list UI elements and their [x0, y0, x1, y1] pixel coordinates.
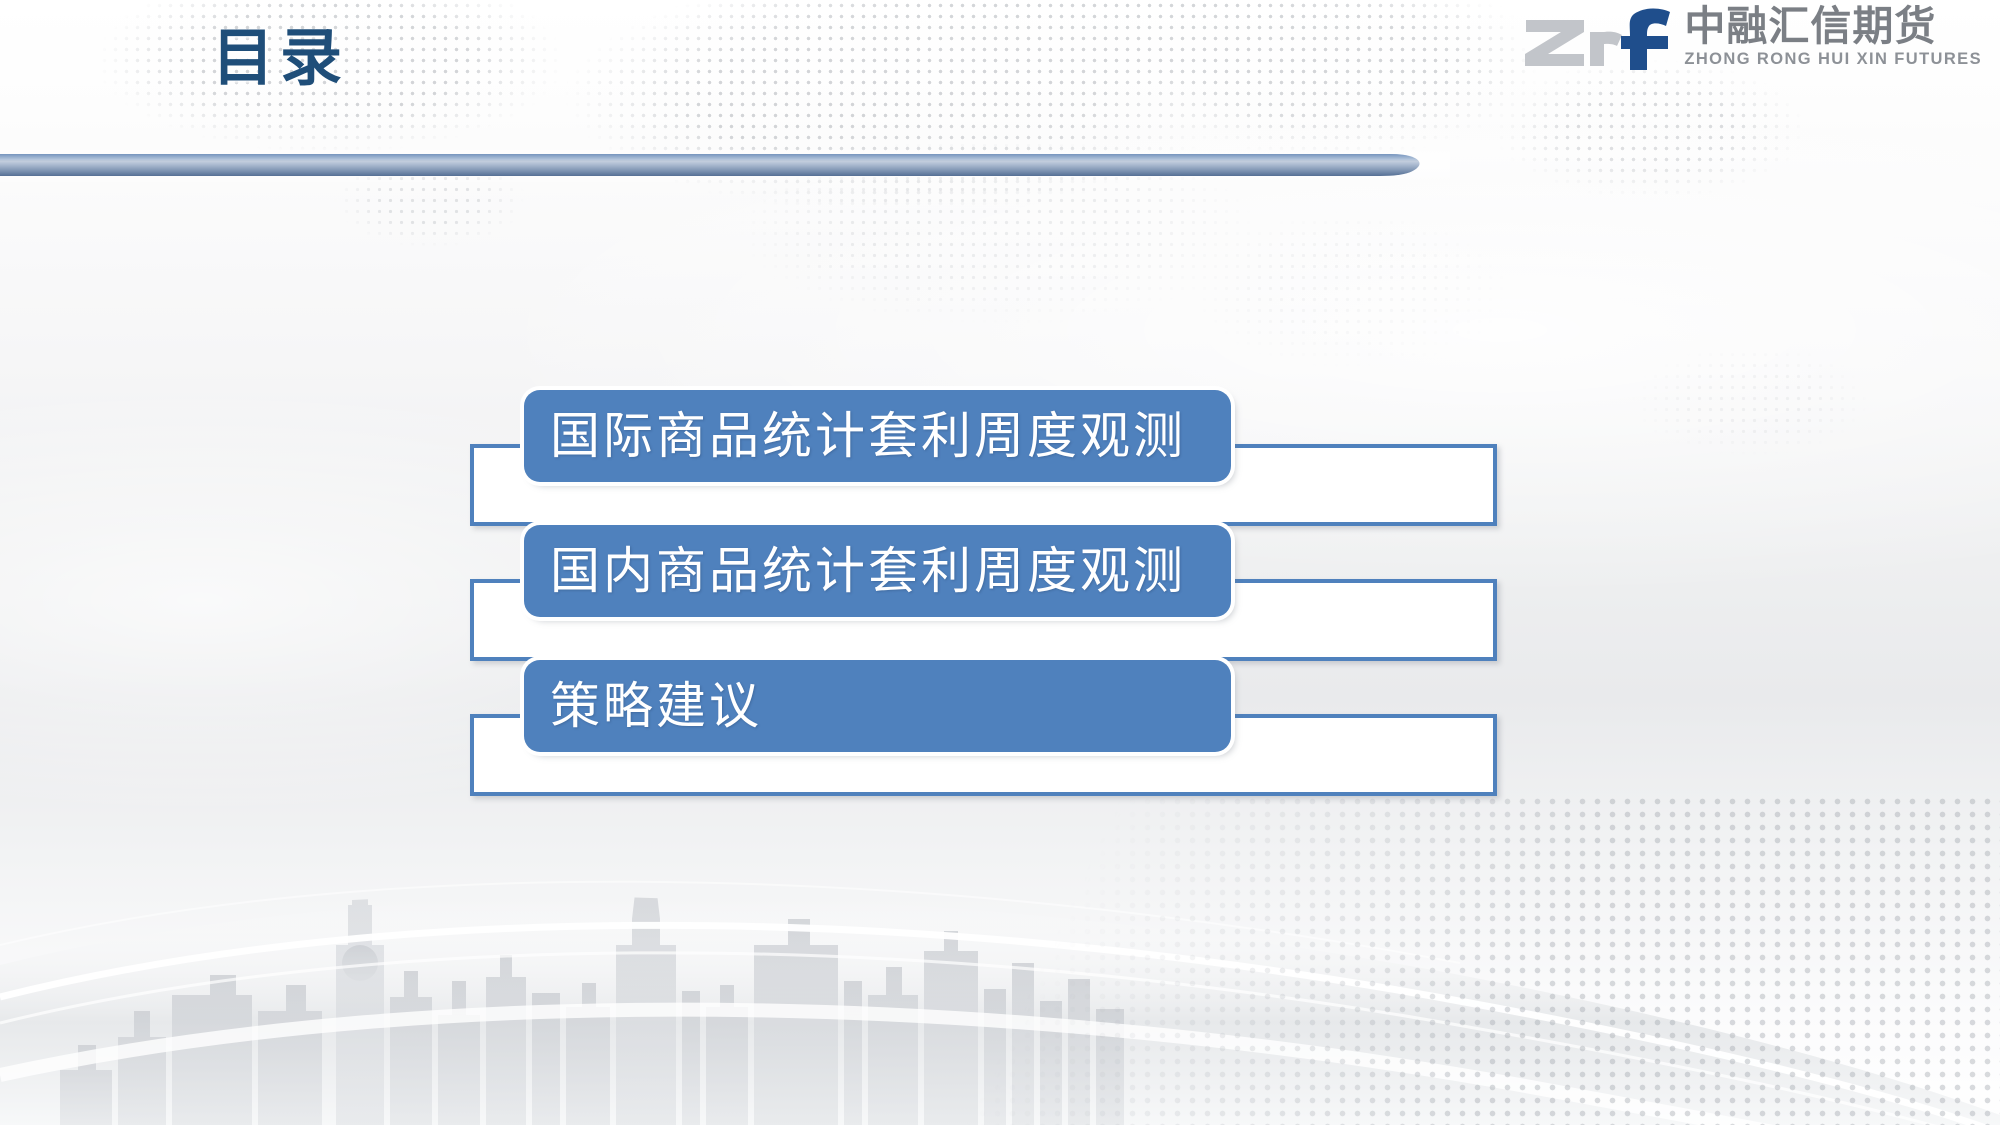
toc-entry-1-label: 国际商品统计套利周度观测	[524, 411, 1186, 461]
presentation-slide: 目录	[0, 0, 2000, 1125]
toc-entry-3-pill[interactable]: 策略建议	[524, 660, 1231, 752]
toc-entry-2-pill[interactable]: 国内商品统计套利周度观测	[524, 525, 1231, 617]
table-of-contents: 国际商品统计套利周度观测 国内商品统计套利周度观测 策略建议	[0, 0, 2000, 1125]
toc-entry-1-pill[interactable]: 国际商品统计套利周度观测	[524, 390, 1231, 482]
toc-entry-2-label: 国内商品统计套利周度观测	[524, 546, 1186, 596]
toc-entry-3-label: 策略建议	[524, 681, 762, 731]
